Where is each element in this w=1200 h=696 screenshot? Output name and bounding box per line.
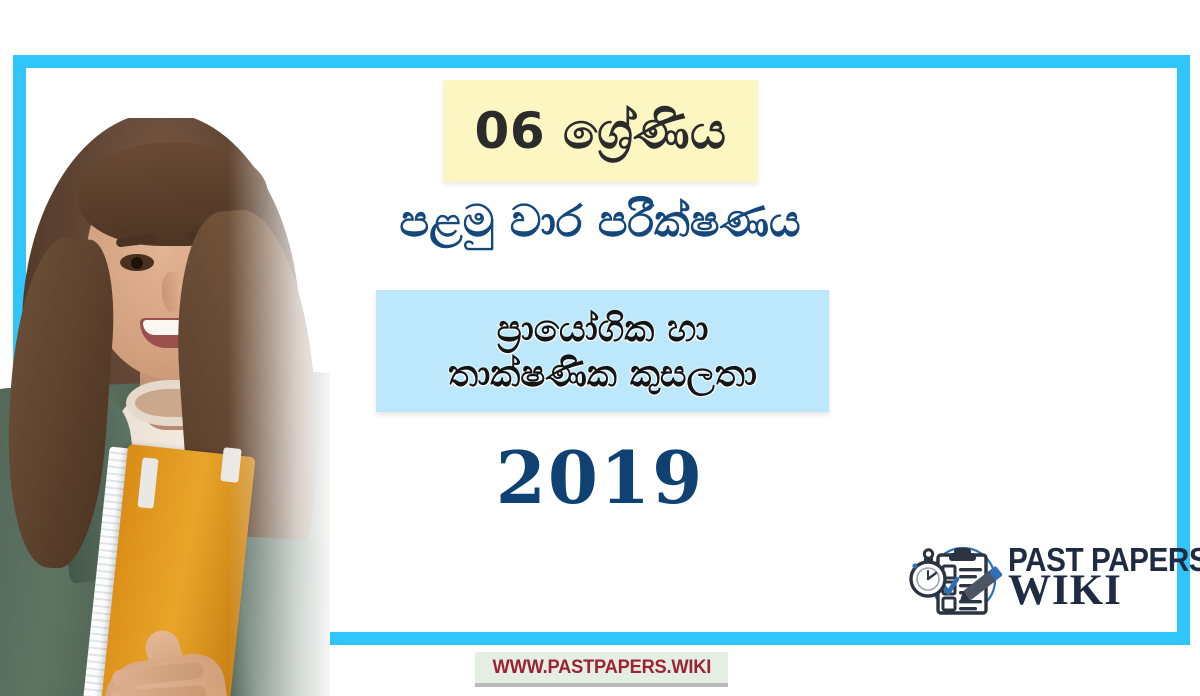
grade-label: 06 ශ්‍රේණිය [475,106,727,156]
pupil-left [131,257,143,269]
logo-line-1: PAST PAPERS [1008,546,1200,574]
year-label: 2019 [0,442,1200,514]
term-label: පළමු වාර පරීක්ෂණය [0,196,1200,249]
subject-badge: ප්‍රායෝගික හා තාක්ෂණික කුසලතා [376,290,829,412]
logo-wordmark: PAST PAPERS WIKI [1008,546,1200,609]
logo-mark-icons [908,535,1004,621]
website-url-label: WWW.PASTPAPERS.WIKI [492,657,711,679]
past-papers-wiki-logo: PAST PAPERS WIKI [908,534,1166,622]
subject-label-line-2: තාක්ෂණික කුසලතා [448,351,757,396]
exam-paper-cover-poster: 06 ශ්‍රේණිය පළමු වාර පරීක්ෂණය ප්‍රායෝගික… [0,0,1200,696]
subject-label-line-1: ප්‍රායෝගික හා [497,306,709,351]
website-url-bar[interactable]: WWW.PASTPAPERS.WIKI [475,652,728,683]
grade-badge: 06 ශ්‍රේණිය [443,80,758,182]
